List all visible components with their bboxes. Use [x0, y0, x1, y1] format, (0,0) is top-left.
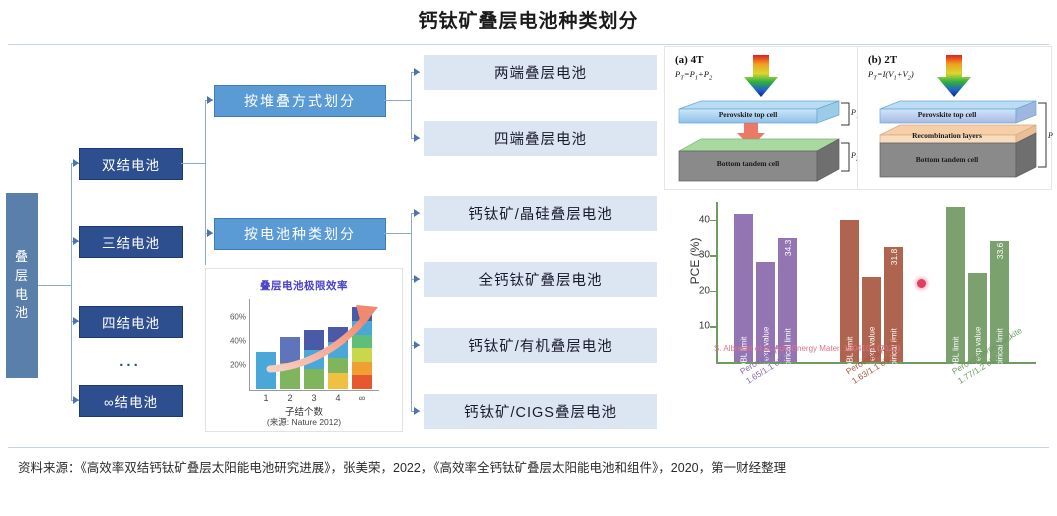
pce-bar-value-label: 31.8 — [889, 249, 899, 266]
page-title: 钙钛矿叠层电池种类划分 — [0, 6, 1057, 33]
inset-x-tick: 2 — [287, 393, 292, 403]
arrow-gb-2-icon — [414, 341, 420, 349]
flow-box-by-stack-method[interactable]: 按堆叠方式划分 — [214, 85, 386, 117]
device-a-bottom-layer: Bottom tandem cell — [675, 159, 821, 168]
connector-l2-feed — [181, 163, 206, 164]
pce-bar: DBL limit — [734, 214, 753, 362]
device-b-top-layer: Perovskite top cell — [877, 110, 1017, 119]
divider-top — [8, 44, 1049, 45]
connector-ga-feed — [384, 100, 412, 101]
flow-root-char-0: 叠 — [15, 248, 29, 267]
arrow-ga-0-icon — [414, 68, 420, 76]
inset-bar-segment — [328, 373, 348, 389]
pce-bar: DBL limit — [840, 220, 859, 362]
arrow-l1-1-icon — [73, 237, 79, 245]
device-a-top-layer: Perovskite top cell — [675, 110, 821, 119]
pce-bar-group-item: DBL limitbest exp valueempirical limit34… — [734, 202, 826, 362]
device-schematic-2t: (b) 2T PT=I(V1+V2) — [857, 46, 1052, 190]
inset-source-note: (来源: Nature 2012) — [206, 416, 402, 428]
inset-x-tick: 1 — [263, 393, 268, 403]
arrow-l1-0-icon — [73, 159, 79, 167]
growth-arrow-icon — [266, 301, 396, 373]
pce-y-tick-mark — [710, 255, 716, 256]
pce-annotation-point — [917, 279, 926, 288]
inset-chart-title: 叠层电池极限效率 — [206, 278, 402, 293]
inset-y-tick: 40% — [230, 337, 246, 346]
arrow-l1-3-icon — [73, 396, 79, 404]
flow-box-perovskite-cigs[interactable]: 钙钛矿/CIGS叠层电池 — [424, 394, 657, 429]
pce-bar-value-label: 33.6 — [995, 242, 1005, 259]
flow-root-char-2: 电 — [15, 286, 29, 305]
flow-box-double-junction[interactable]: 双结电池 — [79, 148, 183, 180]
pce-y-tick-mark — [710, 220, 716, 221]
pce-comparison-chart: PCE (%) 10203040 DBL limitbest exp value… — [672, 196, 1050, 441]
arrow-l2-0-icon — [207, 96, 213, 104]
pce-y-axis — [716, 202, 718, 362]
flow-box-infinite-junction[interactable]: ∞结电池 — [79, 385, 183, 417]
flow-box-triple-junction[interactable]: 三结电池 — [79, 226, 183, 258]
pce-y-tick-label: 10 — [684, 321, 710, 332]
pce-bar-value-label: 34.3 — [783, 240, 793, 257]
arrow-l1-2-icon — [73, 317, 79, 325]
inset-limit-efficiency-chart: 叠层电池极限效率 20%40%60% 子结个数 (来源: Nature 2012… — [205, 268, 403, 432]
connector-root-spine — [71, 163, 72, 401]
arrow-l2-1-icon — [207, 229, 213, 237]
flow-root-char-3: 池 — [15, 304, 29, 323]
device-b-brace-p: P — [1048, 131, 1053, 140]
flow-box-by-cell-type[interactable]: 按电池种类划分 — [214, 218, 386, 250]
device-b-bottom-layer: Bottom tandem cell — [877, 155, 1017, 164]
connector-l2-spine — [205, 100, 206, 265]
connector-gb-spine — [411, 213, 412, 411]
pce-citation: S. Albrecht et al. Adv. Energy Mater. 19… — [714, 344, 900, 353]
inset-x-tick: 4 — [335, 393, 340, 403]
inset-y-tick: 60% — [230, 313, 246, 322]
inset-x-tick: ∞ — [359, 393, 365, 403]
inset-x-axis — [249, 390, 379, 391]
inset-x-tick: 3 — [311, 393, 316, 403]
arrow-gb-0-icon — [414, 209, 420, 217]
slide-canvas: 钙钛矿叠层电池种类划分 叠 层 电 池 双结电池 三结电池 四结电池 ... ∞… — [0, 0, 1057, 516]
flow-box-perovskite-organic[interactable]: 钙钛矿/有机叠层电池 — [424, 328, 657, 363]
flow-root-char-1: 层 — [15, 267, 29, 286]
pce-y-tick-mark — [710, 291, 716, 292]
pce-bar: DBL limit — [946, 207, 965, 362]
connector-root-trunk — [38, 285, 72, 286]
connector-gb-feed — [384, 233, 412, 234]
flow-ellipsis: ... — [79, 354, 181, 370]
pce-y-tick-label: 40 — [684, 214, 710, 225]
flow-box-four-terminal[interactable]: 四端叠层电池 — [424, 121, 657, 156]
inset-bar-segment — [352, 375, 372, 389]
flow-box-perovskite-silicon[interactable]: 钙钛矿/晶硅叠层电池 — [424, 196, 657, 231]
arrow-gb-1-icon — [414, 275, 420, 283]
pce-y-tick-label: 20 — [684, 285, 710, 296]
flow-root-stacked-cell: 叠 层 电 池 — [6, 193, 38, 378]
arrow-ga-1-icon — [414, 134, 420, 142]
flow-box-all-perovskite[interactable]: 全钙钛矿叠层电池 — [424, 262, 657, 297]
pce-y-tick-label: 30 — [684, 250, 710, 261]
divider-bottom — [8, 447, 1049, 448]
device-b-mid-layer: Recombination layers — [877, 131, 1017, 140]
flow-box-two-terminal[interactable]: 两端叠层电池 — [424, 55, 657, 90]
arrow-gb-3-icon — [414, 407, 420, 415]
device-schematic-4t: (a) 4T PT=P1+P2 — [664, 46, 858, 190]
inset-y-tick: 20% — [230, 361, 246, 370]
source-footer: 资料来源：《高效率双结钙钛矿叠层太阳能电池研究进展》，张美荣，2022，《高效率… — [18, 458, 1038, 480]
connector-ga-spine — [411, 72, 412, 138]
flow-box-quad-junction[interactable]: 四结电池 — [79, 306, 183, 338]
pce-y-tick-mark — [710, 326, 716, 327]
